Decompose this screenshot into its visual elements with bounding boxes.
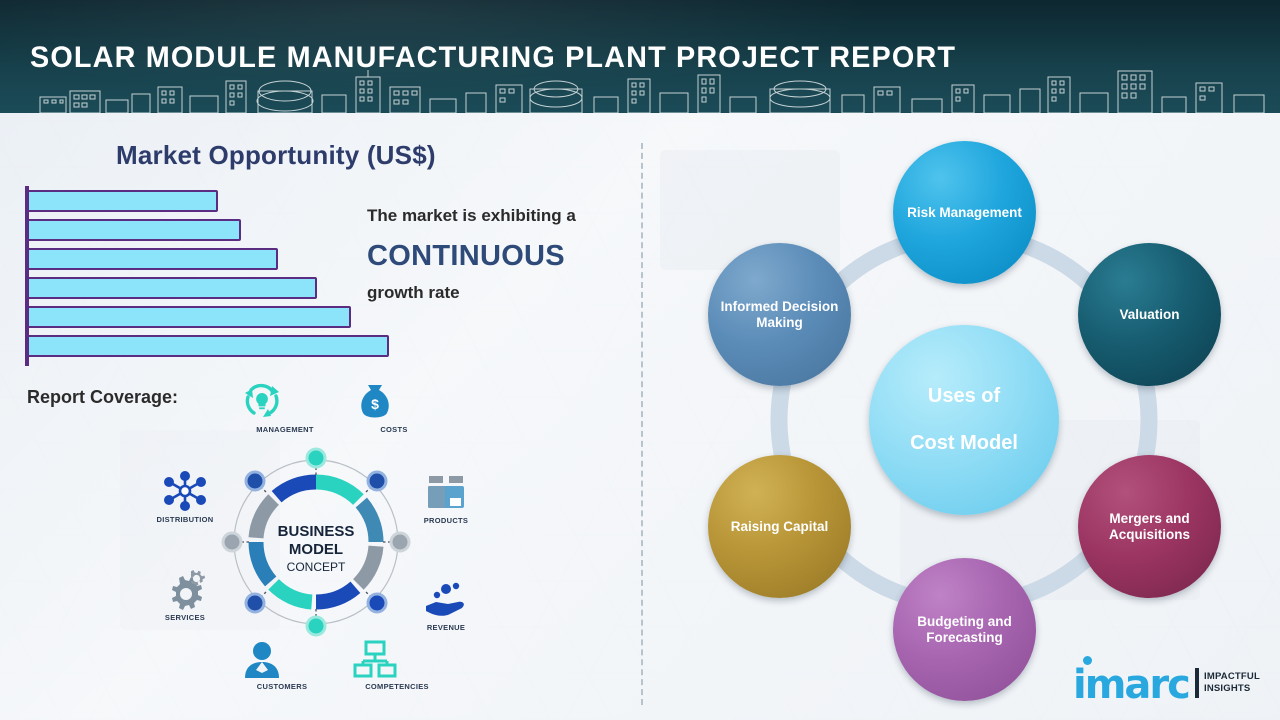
panel-divider: [641, 143, 643, 705]
node-raising-capital[interactable]: Raising Capital: [708, 455, 851, 598]
node-label-valuation: Valuation: [1113, 307, 1185, 323]
competencies-icon: [353, 640, 397, 685]
bm-label-customers: CUSTOMERS: [257, 682, 307, 691]
node-risk-management[interactable]: Risk Management: [893, 141, 1036, 284]
costs-icon: $: [356, 382, 394, 427]
center-line2: Cost Model: [904, 432, 1024, 456]
bm-label-services: SERVICES: [165, 613, 205, 622]
bm-label-management: MANAGEMENT: [256, 425, 314, 434]
bm-center-line1: BUSINESS: [278, 523, 355, 540]
business-model-ring: BUSINESS MODEL CONCEPT: [140, 370, 480, 710]
chart-bar: [27, 190, 218, 212]
bm-label-competencies: COMPETENCIES: [365, 682, 429, 691]
logo-divider: [1195, 668, 1199, 698]
node-label-budgeting-forecasting: Budgeting and Forecasting: [893, 614, 1036, 646]
business-model-diagram: BUSINESS MODEL CONCEPT MANAGE: [140, 370, 480, 710]
market-opportunity-title: Market Opportunity (US$): [116, 140, 436, 171]
services-icon: [162, 568, 208, 615]
market-opportunity-bar-chart: [25, 186, 405, 366]
bm-label-products: PRODUCTS: [424, 516, 469, 525]
node-budgeting-forecasting[interactable]: Budgeting and Forecasting: [893, 558, 1036, 701]
slide-root: SOLAR MODULE MANUFACTURING PLANT PROJECT…: [0, 0, 1280, 720]
page-header: SOLAR MODULE MANUFACTURING PLANT PROJECT…: [0, 0, 1280, 113]
market-callout-line3: growth rate: [367, 283, 460, 303]
center-line1: Uses of: [904, 385, 1024, 409]
svg-text:$: $: [371, 396, 379, 412]
bm-label-revenue: REVENUE: [427, 623, 465, 632]
logo-dot-icon: [1083, 656, 1092, 665]
logo-wordmark: imarc: [1073, 662, 1189, 708]
distribution-icon: [161, 470, 209, 517]
chart-bar: [27, 306, 351, 328]
node-uses-of-cost-model[interactable]: Uses of Cost Model: [869, 325, 1059, 515]
node-label-raising-capital: Raising Capital: [725, 519, 835, 535]
imarc-logo[interactable]: imarc IMPACTFUL INSIGHTS: [1073, 660, 1273, 708]
node-mergers-acquisitions[interactable]: Mergers and Acquisitions: [1078, 455, 1221, 598]
products-icon: [425, 474, 467, 517]
management-icon: [239, 380, 285, 427]
node-label-mergers-acquisitions: Mergers and Acquisitions: [1078, 511, 1221, 543]
chart-bar: [27, 219, 241, 241]
node-valuation[interactable]: Valuation: [1078, 243, 1221, 386]
bm-center-line3: CONCEPT: [287, 560, 346, 574]
node-label-risk-management: Risk Management: [901, 205, 1028, 221]
bm-label-costs: COSTS: [380, 425, 407, 434]
chart-bar: [27, 335, 389, 357]
chart-bar: [27, 248, 278, 270]
market-callout-line1: The market is exhibiting a: [367, 206, 576, 226]
customers-icon: [242, 640, 282, 685]
bm-label-distribution: DISTRIBUTION: [157, 515, 214, 524]
node-label-informed-decision-making: Informed Decision Making: [708, 299, 851, 331]
logo-tagline: IMPACTFUL INSIGHTS: [1204, 671, 1260, 695]
chart-bar: [27, 277, 317, 299]
bm-center-line2: MODEL: [289, 541, 343, 558]
market-callout-emphasis: CONTINUOUS: [367, 240, 565, 273]
page-title: SOLAR MODULE MANUFACTURING PLANT PROJECT…: [30, 41, 956, 75]
uses-of-cost-model-diagram: Uses of Cost Model Risk Management Valua…: [645, 113, 1280, 720]
logo-tagline-line2: INSIGHTS: [1204, 683, 1250, 694]
revenue-icon: [424, 582, 468, 625]
logo-tagline-line1: IMPACTFUL: [1204, 671, 1260, 682]
node-informed-decision-making[interactable]: Informed Decision Making: [708, 243, 851, 386]
